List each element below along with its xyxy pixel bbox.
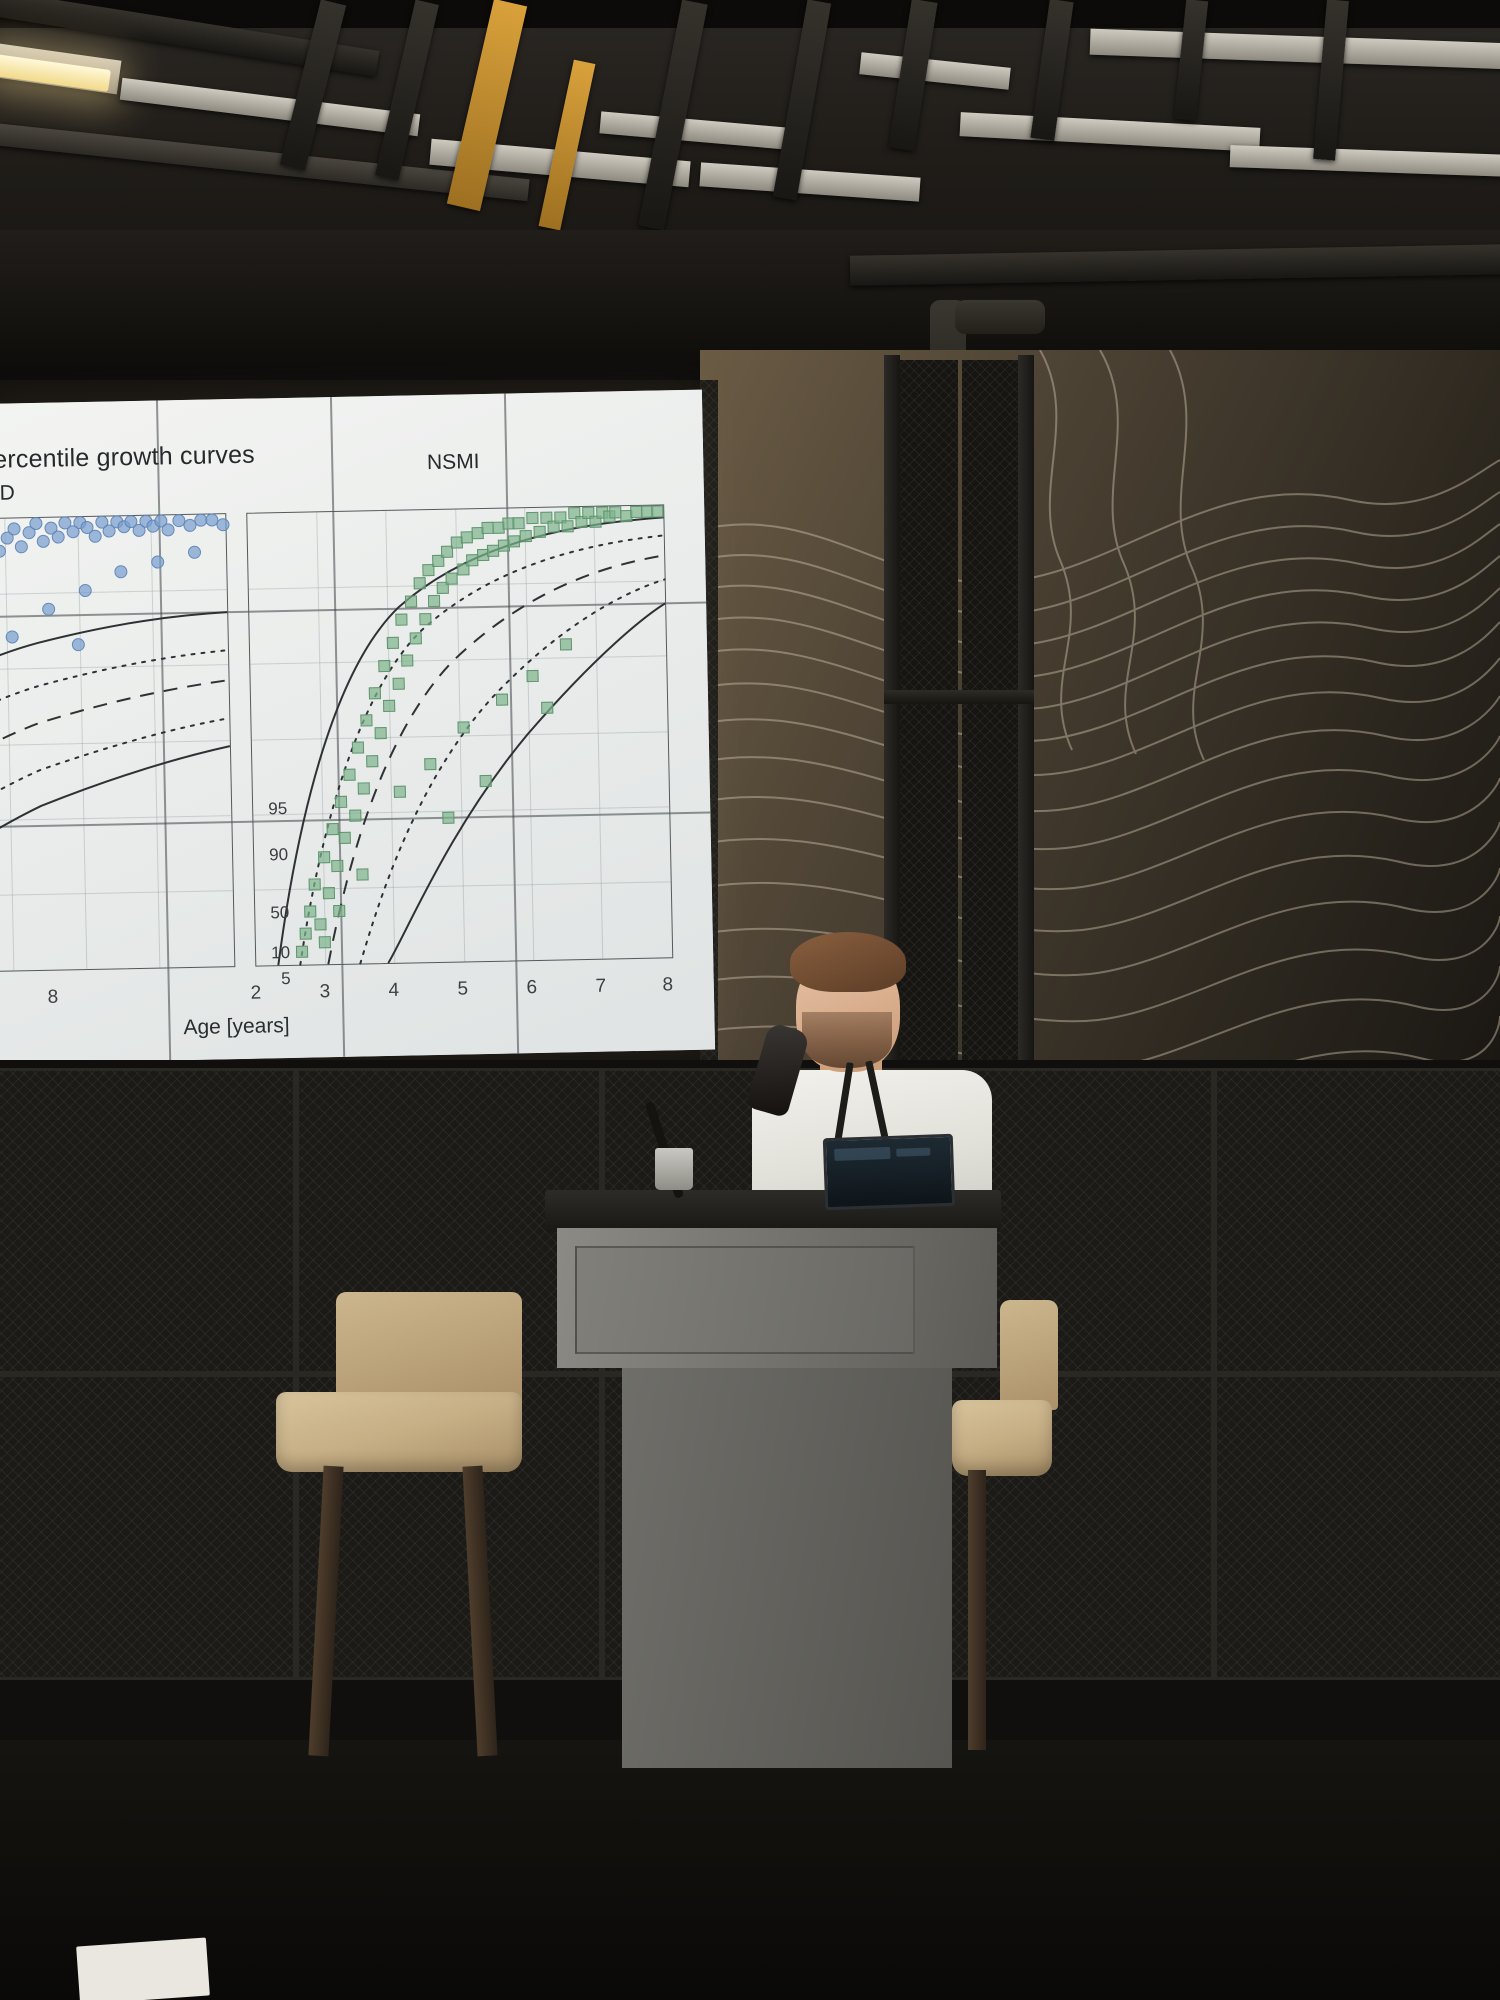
ceiling-duct-2 (955, 300, 1045, 334)
data-point (395, 614, 407, 626)
data-point (378, 660, 390, 672)
data-point (513, 517, 525, 529)
data-point (323, 887, 335, 899)
data-point (15, 540, 28, 553)
data-point (366, 755, 378, 767)
data-point (331, 859, 343, 871)
wall-frame-rail (884, 690, 1034, 704)
panel-nsmi: NSMI (244, 468, 674, 976)
data-point (651, 505, 663, 517)
data-point (458, 721, 470, 733)
data-point (314, 919, 326, 931)
data-point (375, 727, 387, 739)
panel-td-label: TD (0, 477, 226, 510)
data-point (51, 530, 64, 543)
percentile-curves-td (0, 514, 234, 975)
data-point (419, 614, 431, 626)
data-point (42, 603, 55, 616)
data-point (541, 702, 553, 714)
data-point (309, 878, 321, 890)
data-point (361, 714, 373, 726)
data-point (357, 868, 369, 880)
data-point (508, 535, 520, 547)
ceiling (0, 0, 1500, 380)
data-point (534, 525, 546, 537)
data-point (161, 523, 174, 536)
data-point (405, 596, 417, 608)
data-point (410, 632, 422, 644)
x-tick-nsmi-4: 4 (388, 980, 399, 1002)
laptop-screen-glow (834, 1147, 890, 1161)
data-point (299, 928, 311, 940)
laptop[interactable] (823, 1134, 955, 1210)
panel-td: TD (0, 477, 236, 986)
data-point (335, 796, 347, 808)
data-point (318, 851, 330, 863)
percentile-label-10: 10 (271, 943, 290, 963)
stool-right-back (1000, 1300, 1058, 1410)
x-tick-nsmi-7: 7 (595, 976, 606, 998)
data-point (369, 687, 381, 699)
x-axis-title: Age [years] (183, 1014, 290, 1040)
percentile-label-50: 50 (270, 903, 289, 923)
x-tick-td-8: 8 (47, 987, 58, 1009)
water-bottle[interactable] (655, 1148, 693, 1190)
x-tick-nsmi-5: 5 (457, 978, 468, 1000)
plot-area-nsmi: 95 90 50 10 5 (246, 504, 673, 966)
data-point (88, 529, 101, 542)
paper-on-floor (76, 1938, 210, 2000)
wall-panel (1214, 1068, 1500, 1374)
data-point (527, 512, 539, 524)
data-point (560, 638, 572, 650)
data-point (413, 577, 425, 589)
data-point (114, 565, 127, 578)
podium-front-inset (575, 1246, 915, 1354)
data-point (520, 530, 532, 542)
data-point (326, 823, 338, 835)
data-point (296, 946, 308, 958)
x-tick-nsmi-6: 6 (526, 977, 537, 999)
wall-mesh-panel-1 (900, 360, 958, 1060)
plot-area-td (0, 513, 235, 976)
percentile-label-90: 90 (269, 845, 288, 865)
stool-left-back (336, 1292, 522, 1404)
data-point (357, 782, 369, 794)
data-point (151, 555, 164, 568)
presentation-photo: percentile growth curves TD (0, 0, 1500, 2000)
stool-left-seat (276, 1392, 522, 1472)
data-point (216, 518, 229, 531)
data-point (496, 693, 508, 705)
data-point (78, 584, 91, 597)
x-tick-nsmi-8: 8 (662, 974, 673, 996)
data-point (387, 637, 399, 649)
data-point (480, 775, 492, 787)
data-point (343, 769, 355, 781)
presentation-screen: percentile growth curves TD (0, 390, 715, 1064)
stool-right-leg (968, 1470, 986, 1750)
wall-panel (0, 1068, 296, 1374)
wall-mesh-panel-2 (962, 360, 1018, 1060)
data-point (319, 937, 331, 949)
data-point (383, 700, 395, 712)
wall-panel (1214, 1374, 1500, 1680)
x-tick-nsmi-3: 3 (319, 981, 330, 1003)
stool-right-seat (952, 1400, 1052, 1476)
laptop-screen-glow-2 (896, 1148, 930, 1157)
data-point (526, 670, 538, 682)
data-point (7, 522, 20, 535)
floor (0, 1740, 1500, 2000)
data-point (29, 517, 42, 530)
data-point (349, 809, 361, 821)
speaker-hair (790, 932, 906, 992)
wall-frame-post-2 (1018, 355, 1034, 1065)
data-point (187, 545, 200, 558)
data-point (393, 677, 405, 689)
data-point (561, 520, 573, 532)
x-tick-nsmi-2: 2 (250, 983, 261, 1005)
data-point (352, 741, 364, 753)
data-point (401, 655, 413, 667)
data-point (424, 758, 436, 770)
wall-panel (0, 1374, 296, 1680)
percentile-label-95: 95 (268, 799, 287, 819)
data-point (393, 786, 405, 798)
speaker-beard (802, 1012, 892, 1068)
data-point (304, 905, 316, 917)
data-point (339, 832, 351, 844)
podium-base (622, 1368, 952, 1768)
data-point (442, 812, 454, 824)
data-point (428, 595, 440, 607)
data-point (333, 905, 345, 917)
